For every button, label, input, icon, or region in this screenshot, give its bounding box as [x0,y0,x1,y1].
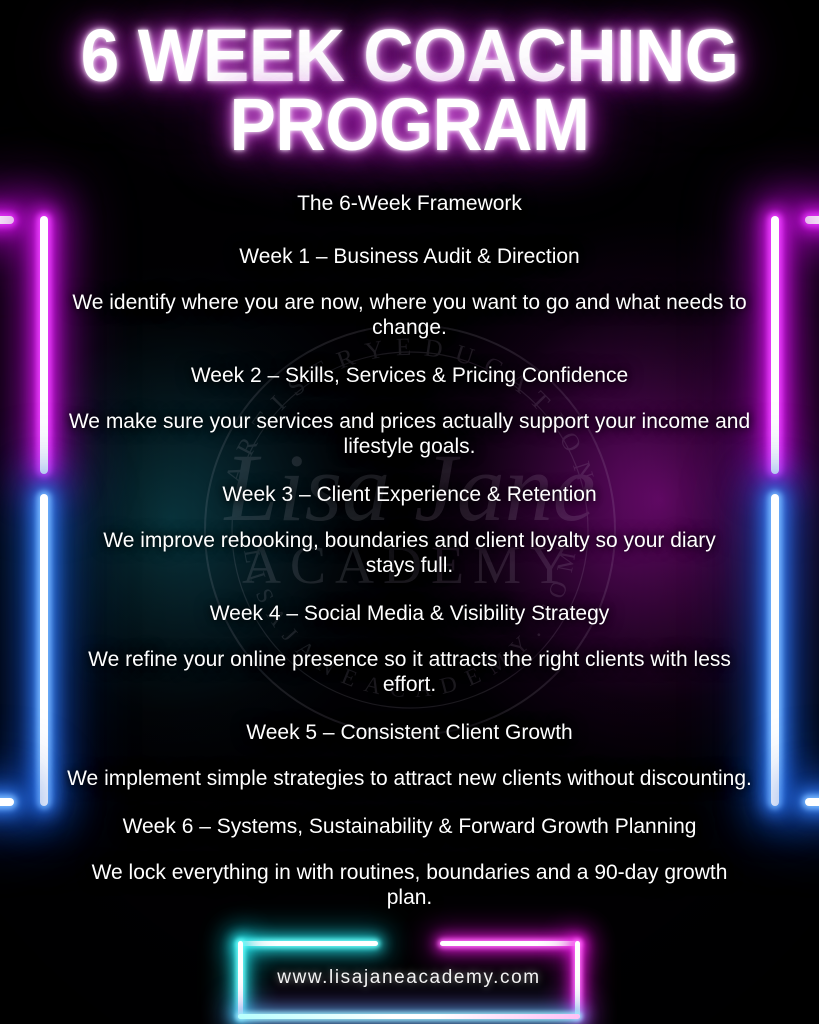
week-heading: Week 2 – Skills, Services & Pricing Conf… [0,362,819,390]
week-body: We refine your online presence so it att… [0,647,819,697]
week-block-3: Week 3 – Client Experience & Retention W… [0,481,819,578]
week-body: We implement simple strategies to attrac… [0,766,819,791]
week-heading: Week 5 – Consistent Client Growth [0,719,819,747]
framework-subtitle: The 6-Week Framework [0,190,819,218]
neon-segment-top-left [238,941,378,946]
program-content: The 6-Week Framework Week 1 – Business A… [0,190,819,932]
website-url[interactable]: www.lisajaneacademy.com [238,967,580,989]
week-heading: Week 3 – Client Experience & Retention [0,481,819,509]
poster-title: 6 WEEK COACHING PROGRAM [0,22,819,160]
poster-canvas: A R T I S T R Y E D U C A T I O N L I S … [0,0,819,1024]
week-heading: Week 6 – Systems, Sustainability & Forwa… [0,813,819,841]
week-body: We make sure your services and prices ac… [0,409,819,459]
week-heading: Week 1 – Business Audit & Direction [0,243,819,271]
poster-title-line-1: 6 WEEK COACHING [25,22,795,91]
week-block-4: Week 4 – Social Media & Visibility Strat… [0,600,819,697]
week-block-2: Week 2 – Skills, Services & Pricing Conf… [0,362,819,459]
week-body: We lock everything in with routines, bou… [0,860,819,910]
week-body: We identify where you are now, where you… [0,290,819,340]
week-heading: Week 4 – Social Media & Visibility Strat… [0,600,819,628]
week-block-1: Week 1 – Business Audit & Direction We i… [0,243,819,340]
neon-segment-bottom [238,1014,580,1019]
neon-segment-top-right [440,941,580,946]
website-neon-frame[interactable]: www.lisajaneacademy.com [238,941,580,1019]
poster-title-line-2: PROGRAM [25,91,795,160]
week-block-6: Week 6 – Systems, Sustainability & Forwa… [0,813,819,910]
week-block-5: Week 5 – Consistent Client Growth We imp… [0,719,819,791]
week-body: We improve rebooking, boundaries and cli… [0,528,819,578]
